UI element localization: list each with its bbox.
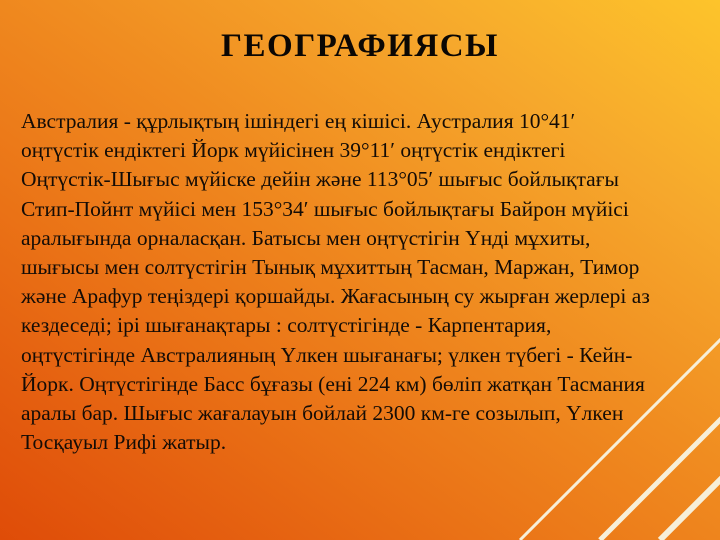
text-line: оңтүстік ендіктегі Йорк мүйісінен 39°11′… [21,136,720,165]
text-line: оңтүстігінде Австралияның Үлкен шығанағы… [21,341,720,370]
text-line: Йорк. Оңтүстігінде Басс бұғазы (ені 224 … [21,370,720,399]
text-line: аралы бар. Шығыс жағалауын бойлай 2300 к… [21,399,720,428]
text-line: және Арафур теңіздері қоршайды. Жағасыны… [21,282,720,311]
text-line: Стип-Пойнт мүйісі мен 153°34′ шығыс бойл… [21,195,720,224]
text-line: Австралия - құрлықтың ішіндегі ең кішісі… [21,107,720,136]
text-line: Оңтүстік-Шығыс мүйіске дейін және 113°05… [21,165,720,194]
slide-body-text: Австралия - құрлықтың ішіндегі ең кішісі… [21,107,720,457]
page-title: ГЕОГРАФИЯСЫ [0,28,720,65]
text-line: Тосқауыл Рифі жатыр. [21,428,720,457]
presentation-slide: ГЕОГРАФИЯСЫ Австралия - құрлықтың ішінде… [0,0,720,540]
text-line: кездеседі; ірі шығанақтары : солтүстігін… [21,311,720,340]
text-line: аралығында орналасқан. Батысы мен оңтүст… [21,224,720,253]
text-line: шығысы мен солтүстігін Тынық мұхиттың Та… [21,253,720,282]
